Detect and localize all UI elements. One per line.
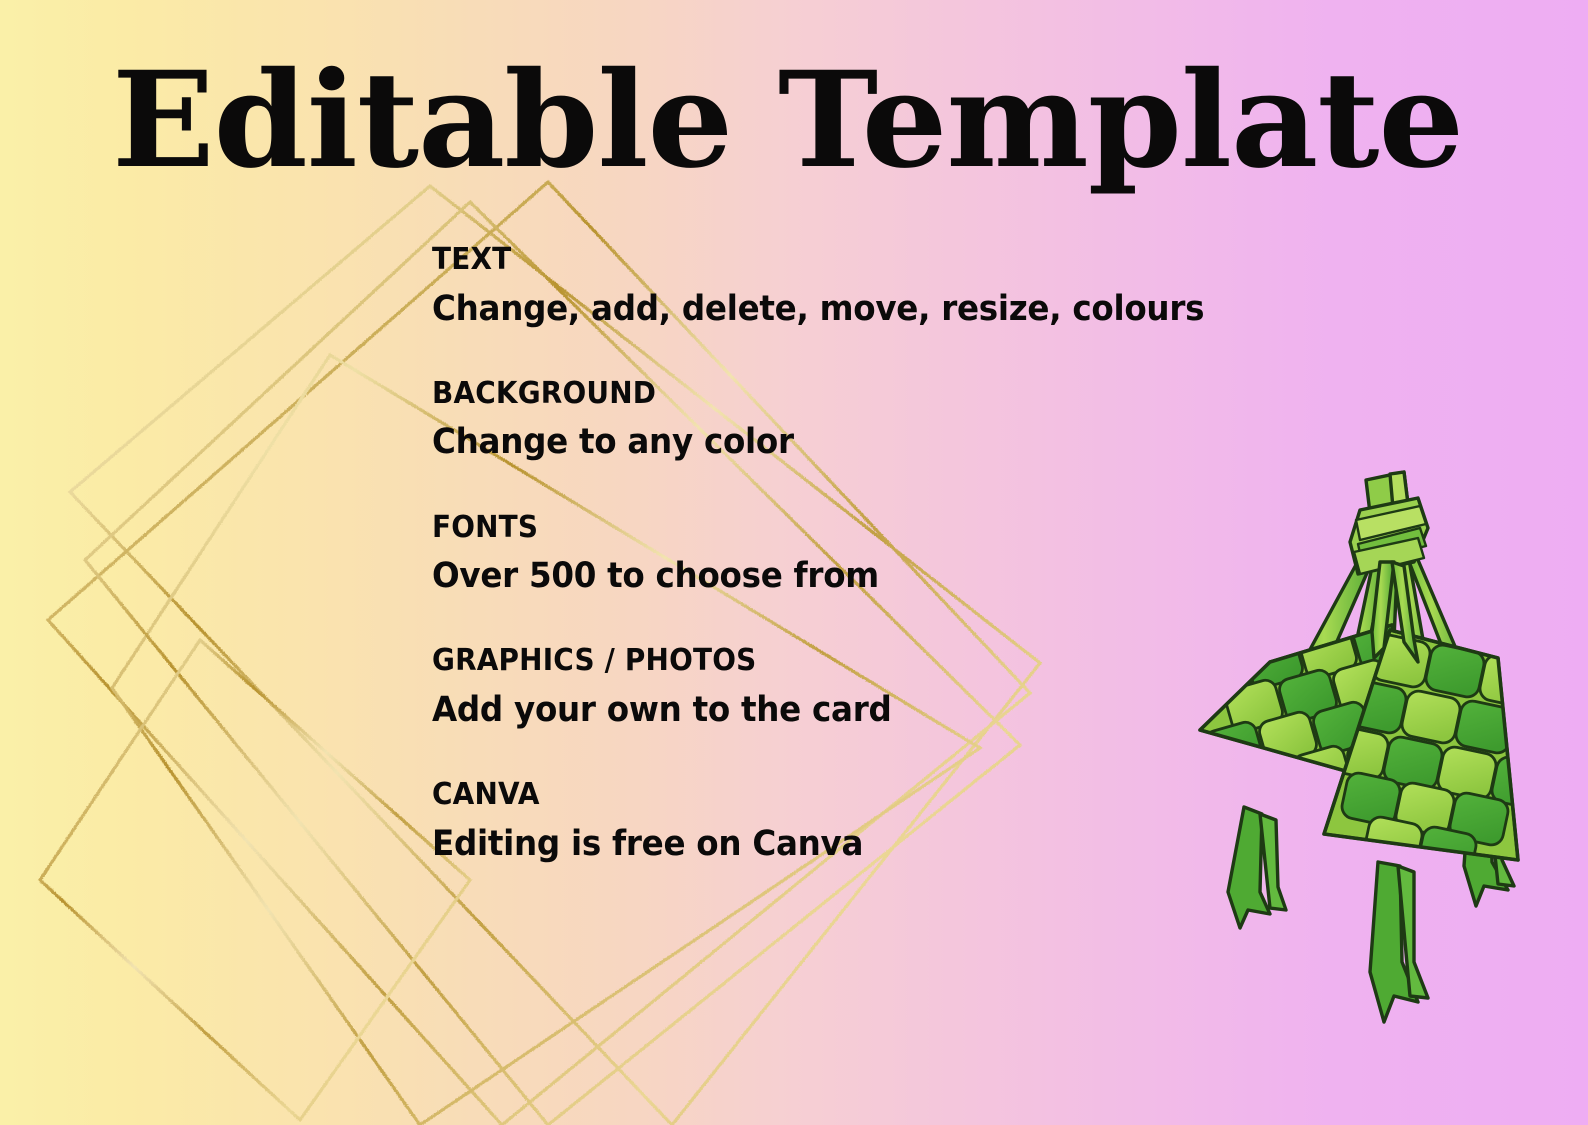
feature-title: TEXT	[432, 243, 1139, 278]
feature-description: Change, add, delete, move, resize, colou…	[432, 289, 1139, 330]
ketupat-front-strands	[1372, 562, 1418, 662]
feature-item-text: TEXT Change, add, delete, move, resize, …	[432, 243, 1192, 330]
template-preview-card: Editable Template TEXT Change, add, dele…	[0, 0, 1588, 1125]
feature-title: FONTS	[432, 511, 1139, 546]
ketupat-tail-middle	[1370, 862, 1428, 1022]
feature-description: Change to any color	[432, 422, 1139, 463]
ketupat-tail-left	[1228, 807, 1286, 928]
page-title: Editable Template	[112, 52, 1463, 191]
ketupat-body-left	[1200, 614, 1447, 811]
feature-title: CANVA	[432, 778, 1139, 813]
feature-item-graphics-photos: GRAPHICS / PHOTOS Add your own to the ca…	[432, 644, 1192, 731]
ketupat-illustration	[1152, 462, 1588, 1087]
ketupat-knot	[1350, 472, 1428, 574]
feature-description: Editing is free on Canva	[432, 824, 1139, 865]
feature-list: TEXT Change, add, delete, move, resize, …	[432, 243, 1192, 865]
ketupat-body-right	[1324, 630, 1570, 881]
feature-item-canva: CANVA Editing is free on Canva	[432, 778, 1192, 865]
ketupat-tail-right	[1464, 782, 1514, 906]
feature-title: BACKGROUND	[432, 377, 1139, 412]
ketupat-strands	[1288, 548, 1470, 712]
feature-description: Add your own to the card	[432, 690, 1139, 731]
feature-item-background: BACKGROUND Change to any color	[432, 377, 1192, 464]
feature-title: GRAPHICS / PHOTOS	[432, 644, 1139, 679]
feature-item-fonts: FONTS Over 500 to choose from	[432, 511, 1192, 598]
feature-description: Over 500 to choose from	[432, 556, 1139, 597]
